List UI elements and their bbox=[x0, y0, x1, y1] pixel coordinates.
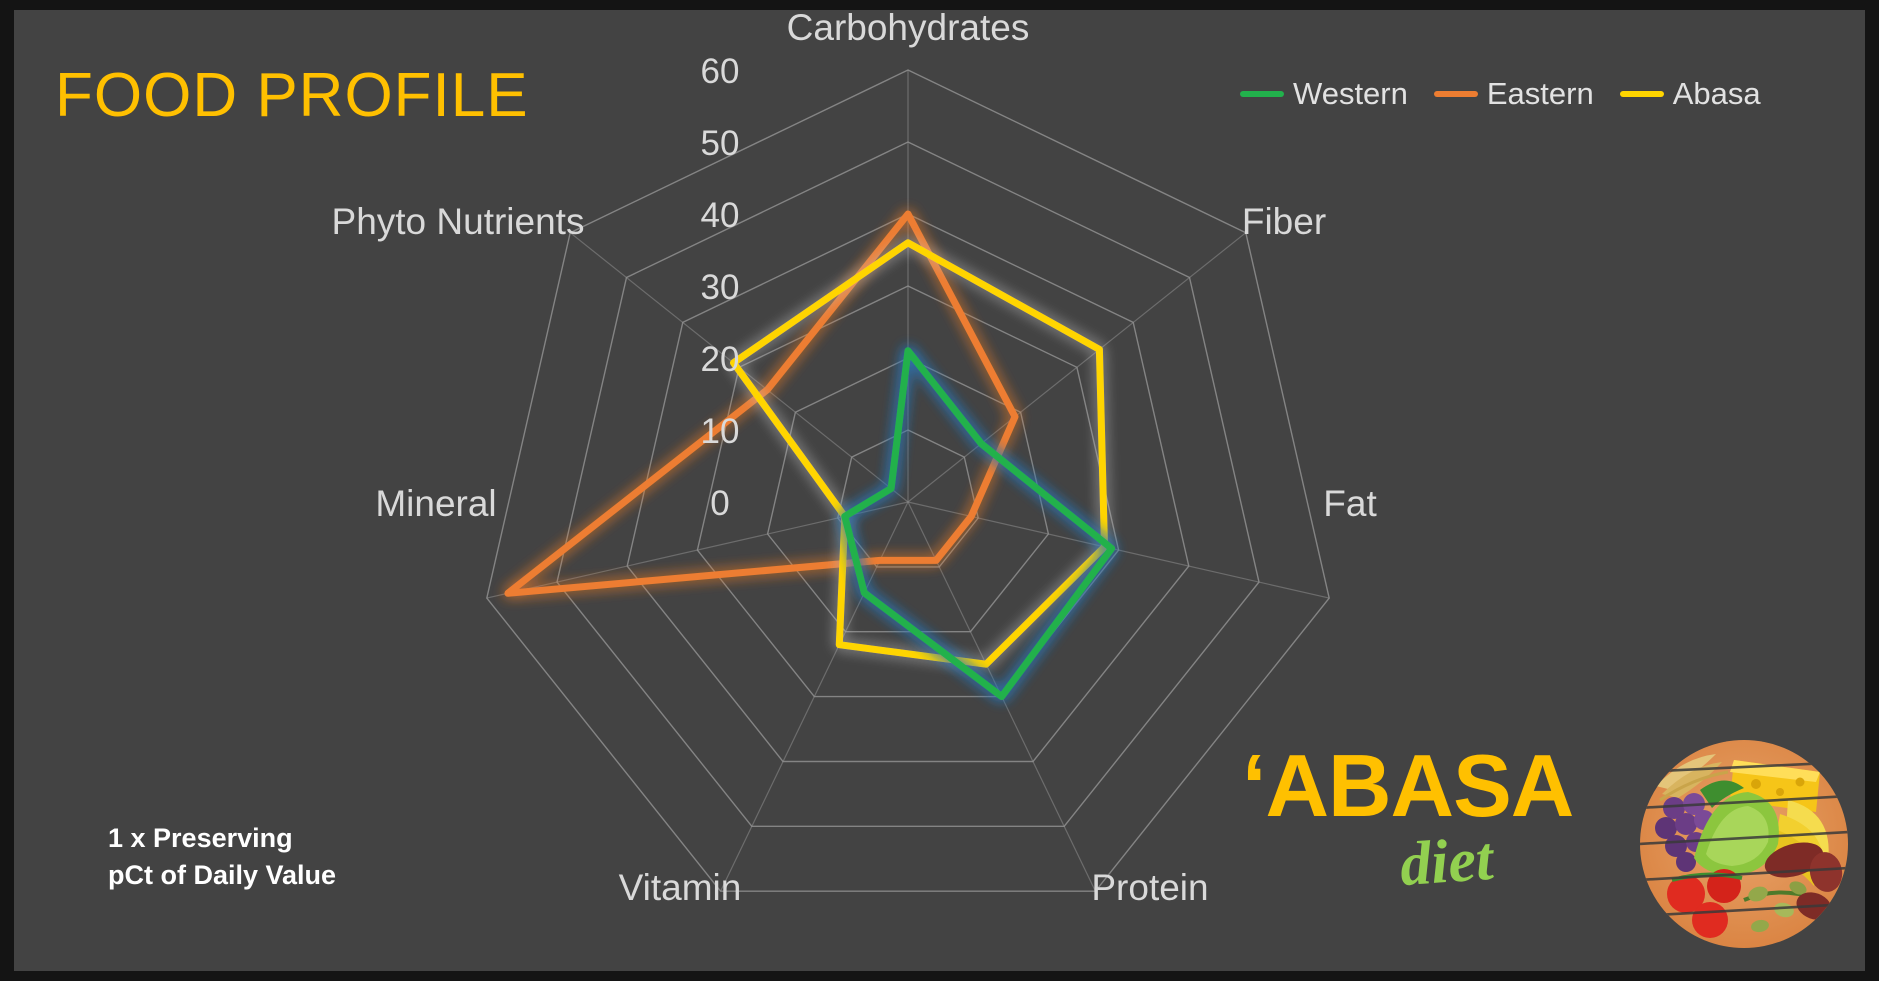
footnote: 1 x Preserving pCt of Daily Value bbox=[108, 820, 336, 895]
radar-category-labels: CarbohydratesFiberFatProteinVitaminMiner… bbox=[332, 7, 1378, 908]
tick-label-50: 50 bbox=[701, 124, 740, 163]
brand-logo: ‘ABASA diet bbox=[1242, 735, 1572, 910]
tick-label-0: 0 bbox=[710, 484, 729, 523]
tick-label-60: 60 bbox=[701, 52, 740, 91]
brand-wordmark: ‘ABASA bbox=[1242, 735, 1573, 837]
footnote-line-2: pCt of Daily Value bbox=[108, 857, 336, 894]
series-line-abasa bbox=[734, 243, 1105, 664]
tick-label-20: 20 bbox=[701, 340, 740, 379]
category-label-phyto-nutrients: Phyto Nutrients bbox=[332, 201, 585, 242]
category-label-carbohydrates: Carbohydrates bbox=[787, 7, 1030, 48]
food-collage-image bbox=[1638, 738, 1850, 950]
footnote-line-1: 1 x Preserving bbox=[108, 820, 336, 857]
tick-label-30: 30 bbox=[701, 268, 740, 307]
brand-tagline: diet bbox=[1398, 824, 1496, 901]
category-label-mineral: Mineral bbox=[375, 483, 496, 524]
radar-spokes bbox=[487, 70, 1329, 891]
series-line-western bbox=[845, 351, 1112, 697]
category-label-fat: Fat bbox=[1323, 483, 1377, 524]
tick-label-40: 40 bbox=[701, 196, 740, 235]
slide-canvas: FOOD PROFILE Western Eastern Abasa bbox=[0, 0, 1879, 981]
radar-series bbox=[508, 214, 1112, 697]
category-label-protein: Protein bbox=[1091, 867, 1208, 908]
tick-label-10: 10 bbox=[701, 412, 740, 451]
category-label-fiber: Fiber bbox=[1242, 201, 1326, 242]
category-label-vitamin: Vitamin bbox=[619, 867, 742, 908]
